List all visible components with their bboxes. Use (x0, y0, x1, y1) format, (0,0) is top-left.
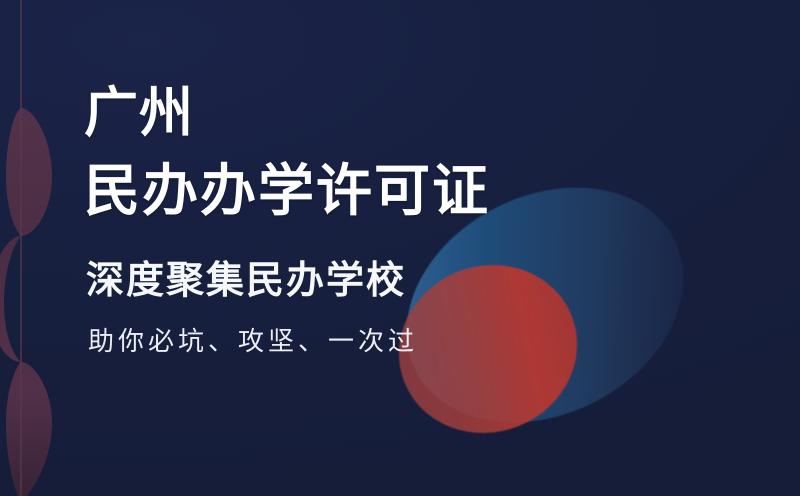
banner-tagline: 助你必坑、攻坚、一次过 (88, 328, 418, 354)
banner-title-line-1: 广州 (84, 86, 194, 140)
banner-title-line-2: 民办办学许可证 (84, 164, 490, 220)
banner-subtitle: 深度聚集民办学校 (86, 262, 406, 300)
banner-text-block: 广州 民办办学许可证 深度聚集民办学校 助你必坑、攻坚、一次过 (84, 0, 724, 496)
promo-banner: 广州 民办办学许可证 深度聚集民办学校 助你必坑、攻坚、一次过 (0, 0, 800, 496)
